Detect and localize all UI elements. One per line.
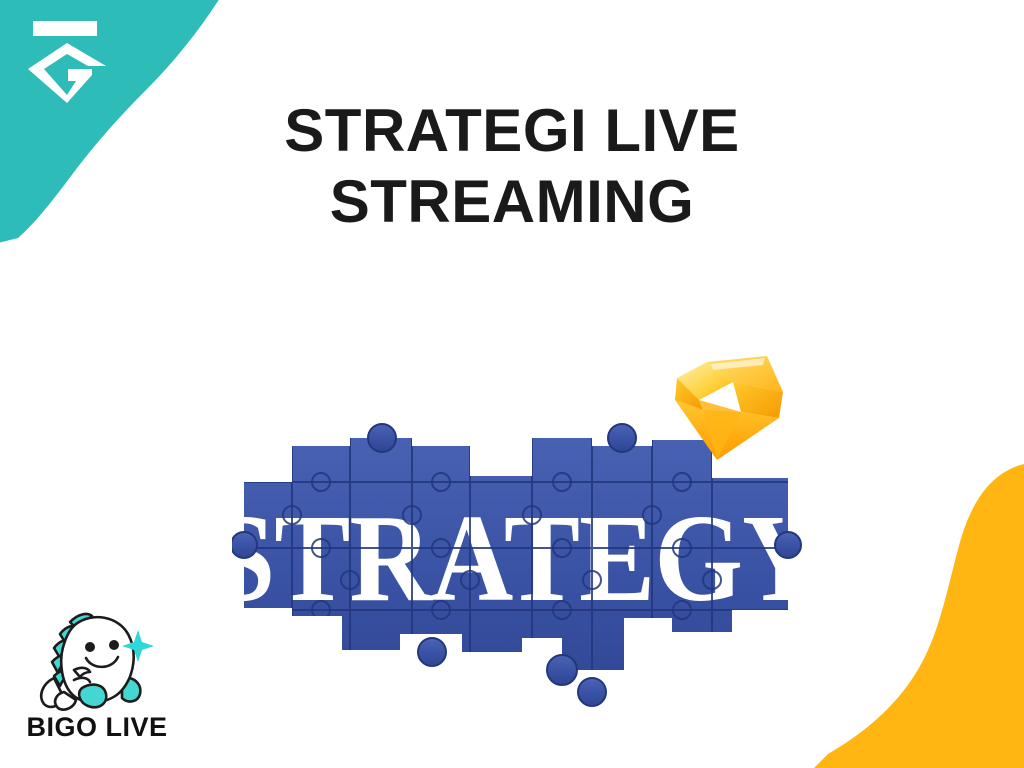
page-title-line-2: STREAMING xyxy=(0,167,1024,238)
angular-g-logo[interactable] xyxy=(26,17,110,103)
mascot-eye-left xyxy=(85,642,95,652)
diamond-gem-icon xyxy=(655,348,805,466)
bigo-dino-mascot-icon xyxy=(30,600,158,718)
slide-canvas: STRATEGI LIVE STREAMING STRATEGY xyxy=(0,0,1024,768)
page-title-line-1: STRATEGI LIVE xyxy=(0,96,1024,167)
mascot-eye-right xyxy=(109,640,119,650)
orange-corner-shape xyxy=(814,438,1024,768)
bigo-live-logo[interactable]: BIGO LIVE xyxy=(12,600,182,760)
bigo-live-wordmark: BIGO LIVE xyxy=(12,712,182,743)
page-title: STRATEGI LIVE STREAMING xyxy=(0,96,1024,238)
